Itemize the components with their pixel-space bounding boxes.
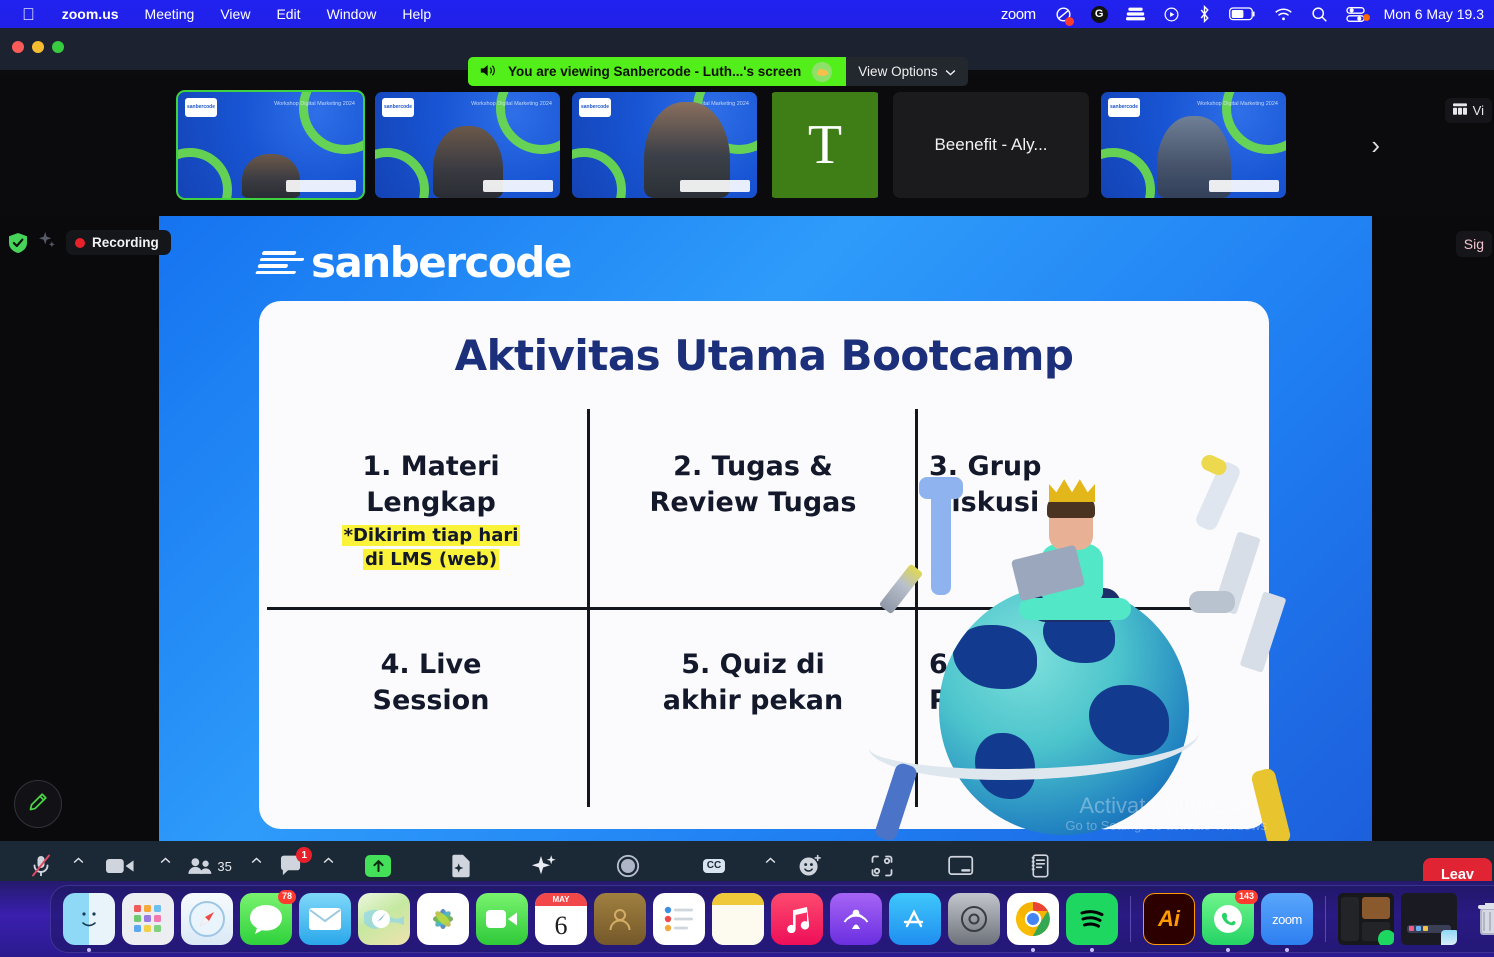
- share-arrow-icon: [365, 853, 391, 879]
- annotate-button[interactable]: [14, 780, 62, 828]
- slide-cell-2-line1: 2. Tugas &: [673, 451, 833, 482]
- participant-thumb-4[interactable]: T: [769, 92, 881, 198]
- slide-cell-4-line2: Session: [373, 685, 490, 716]
- spotlight-search-icon[interactable]: [1302, 6, 1337, 23]
- participant-thumb-6[interactable]: sanbercode Workshop Digital Marketing 20…: [1101, 92, 1286, 198]
- pencil-icon: [27, 791, 49, 818]
- close-window-button[interactable]: [12, 41, 24, 53]
- messages-badge: 78: [278, 890, 296, 904]
- decor-tube-icon: [931, 485, 951, 595]
- dock-app-messages[interactable]: 78: [240, 893, 292, 945]
- smiley-plus-icon: [798, 853, 822, 879]
- slide-illustration: [879, 415, 1279, 835]
- dock-app-music[interactable]: [771, 893, 823, 945]
- dock-app-facetime[interactable]: [476, 893, 528, 945]
- slide-cell-1: 1. Materi Lengkap *Dikirim tiap haridi L…: [297, 449, 565, 571]
- minimize-window-button[interactable]: [32, 41, 44, 53]
- speaker-icon: [480, 63, 497, 81]
- dock-app-podcasts[interactable]: [830, 893, 882, 945]
- app-running-indicator: [1031, 948, 1035, 952]
- apps-icon: [870, 853, 894, 879]
- dock-separator: [1130, 896, 1131, 942]
- slide-cell-1-line2: Lengkap: [366, 487, 496, 518]
- dock-app-safari[interactable]: [181, 893, 233, 945]
- dock-app-notes[interactable]: [712, 893, 764, 945]
- satellite-panel-icon: [1240, 591, 1287, 673]
- whatsapp-badge: 143: [1235, 890, 1258, 904]
- zoom-menu-extra-icon[interactable]: zoom: [992, 6, 1045, 23]
- sparkles-icon: [531, 853, 557, 879]
- record-dot-icon: [75, 238, 85, 248]
- dock-minimized-window-spotify[interactable]: [1338, 893, 1394, 945]
- chat-bubble-icon: 1: [279, 853, 303, 879]
- menu-item-zoom-us[interactable]: zoom.us: [49, 6, 132, 22]
- grid-view-icon: [1453, 103, 1467, 118]
- dock-app-calendar[interactable]: MAY 6: [535, 893, 587, 945]
- app-running-indicator: [1226, 948, 1230, 952]
- bluetooth-icon[interactable]: [1189, 5, 1220, 23]
- participant-thumb-1[interactable]: sanbercode Workshop Digital Marketing 20…: [178, 92, 363, 198]
- app-running-indicator: [1090, 948, 1094, 952]
- view-options-button[interactable]: View Options: [846, 57, 967, 86]
- pencil-icon: [879, 564, 924, 615]
- chat-unread-badge: 1: [296, 847, 312, 863]
- participant-thumb-3[interactable]: sanbercode ital Marketing 2024: [572, 92, 757, 198]
- menu-item-help[interactable]: Help: [389, 6, 444, 22]
- dock-app-whatsapp[interactable]: 143: [1202, 893, 1254, 945]
- sanbercode-logo-icon: sanbercode: [185, 98, 217, 117]
- battery-icon[interactable]: [1220, 7, 1265, 21]
- zoom-dock-label: zoom: [1272, 912, 1302, 927]
- window-traffic-lights[interactable]: [12, 41, 64, 53]
- video-camera-icon: [106, 853, 134, 879]
- recording-indicator[interactable]: Recording: [66, 230, 171, 255]
- sponsor-strip: [1209, 180, 1279, 192]
- document-sparkle-icon: [450, 853, 472, 879]
- participant-initial-avatar: T: [772, 92, 878, 198]
- dock-app-reminders[interactable]: [653, 893, 705, 945]
- illustrator-label: Ai: [1158, 906, 1180, 932]
- screen-recorder-icon[interactable]: [1045, 5, 1082, 24]
- slide-cell-1-line1: 1. Materi: [362, 451, 499, 482]
- decor-tube-icon: [873, 762, 918, 841]
- thumb-caption: ital Marketing 2024: [703, 101, 749, 107]
- sanbercode-brand-logo: sanbercode: [259, 238, 571, 287]
- dock-app-launchpad[interactable]: [122, 893, 174, 945]
- slide-cell-2-line2: Review Tugas: [650, 487, 857, 518]
- meeting-status-strip: Recording: [8, 230, 171, 255]
- view-options-label: View Options: [858, 64, 937, 79]
- thumb-caption: Workshop Digital Marketing 2024: [1197, 101, 1278, 107]
- whiteboard-icon: [948, 853, 974, 879]
- sanbercode-logo-icon: sanbercode: [382, 98, 414, 117]
- dock-minimized-window-desktop[interactable]: [1401, 893, 1457, 945]
- slide-title: Aktivitas Utama Bootcamp: [259, 301, 1269, 380]
- watermark-line-1: Activate Windows: [1065, 794, 1267, 818]
- viewing-screen-indicator: You are viewing Sanbercode - Luth...'s s…: [468, 57, 846, 86]
- menu-item-meeting[interactable]: Meeting: [132, 6, 208, 22]
- people-icon: 35: [187, 853, 231, 879]
- menu-item-window[interactable]: Window: [314, 6, 390, 22]
- dock-app-system-settings[interactable]: [948, 893, 1000, 945]
- cloud-icon: [812, 62, 832, 82]
- sponsor-strip: [680, 180, 750, 192]
- maximize-window-button[interactable]: [52, 41, 64, 53]
- ai-sparkle-icon[interactable]: [38, 231, 56, 254]
- chevron-down-icon: [945, 64, 956, 79]
- dock-app-finder[interactable]: [63, 893, 115, 945]
- person-on-globe-icon: [1009, 480, 1139, 635]
- windows-activation-watermark: Activate Windows Go to Settings to activ…: [1065, 794, 1267, 833]
- sanbercode-logo-icon: sanbercode: [1108, 98, 1140, 117]
- control-center-icon[interactable]: [1337, 6, 1374, 23]
- stack-layers-icon[interactable]: [1117, 6, 1154, 22]
- logitech-g-icon[interactable]: G: [1082, 6, 1117, 23]
- sanbercode-wordmark: sanbercode: [311, 238, 571, 287]
- record-circle-icon: [616, 853, 640, 879]
- slide-cell-1-note: *Dikirim tiap haridi LMS (web): [297, 524, 565, 571]
- thumb-caption: Workshop Digital Marketing 2024: [471, 101, 552, 107]
- sponsor-strip: [286, 180, 356, 192]
- dock-app-spotify[interactable]: [1066, 893, 1118, 945]
- app-running-indicator: [87, 948, 91, 952]
- slide-cell-2: 2. Tugas & Review Tugas: [607, 449, 899, 520]
- dock-separator: [1325, 896, 1326, 942]
- participants-count: 35: [217, 859, 231, 874]
- filmstrip-next-button[interactable]: ›: [1357, 74, 1394, 216]
- closed-caption-icon: CC: [703, 853, 725, 879]
- satellite-body-icon: [1189, 591, 1235, 613]
- dock-app-mail[interactable]: [299, 893, 351, 945]
- microphone-muted-icon: [30, 853, 52, 879]
- dock-app-app-store[interactable]: [889, 893, 941, 945]
- slide-cell-4-line1: 4. Live: [381, 649, 482, 680]
- screen-share-banner: You are viewing Sanbercode - Luth...'s s…: [468, 57, 968, 86]
- thumb-caption: Workshop Digital Marketing 2024: [274, 101, 355, 107]
- dock-app-zoom[interactable]: zoom: [1261, 893, 1313, 945]
- menu-item-edit[interactable]: Edit: [263, 6, 313, 22]
- participant-filmstrip[interactable]: sanbercode Workshop Digital Marketing 20…: [0, 74, 1494, 216]
- view-layout-button[interactable]: Vi: [1445, 98, 1492, 123]
- slide-cell-5-line2: akhir pekan: [663, 685, 843, 716]
- now-playing-icon[interactable]: [1154, 6, 1189, 23]
- decor-tube-icon: [919, 477, 963, 499]
- view-button-label: Vi: [1473, 103, 1484, 118]
- sanbercode-mark-icon: [255, 251, 306, 274]
- slide-cell-5-line1: 5. Quiz di: [681, 649, 825, 680]
- presentation-slide: sanbercode Aktivitas Utama Bootcamp 1. M…: [159, 216, 1372, 841]
- wifi-icon[interactable]: [1265, 7, 1302, 22]
- notes-icon: [1030, 853, 1050, 879]
- slide-card: Aktivitas Utama Bootcamp 1. Materi Lengk…: [259, 301, 1269, 829]
- zoom-meeting-window: You are viewing Sanbercode - Luth...'s s…: [0, 28, 1494, 957]
- macos-menu-bar:  zoom.us Meeting View Edit Window Help …: [0, 0, 1494, 28]
- apple-logo-icon[interactable]: : [8, 6, 49, 23]
- menu-item-view[interactable]: View: [207, 6, 263, 22]
- slide-cell-5: 5. Quiz di akhir pekan: [607, 647, 899, 718]
- sanbercode-logo-icon: sanbercode: [579, 98, 611, 117]
- dock-app-adobe-illustrator[interactable]: Ai: [1143, 893, 1195, 945]
- participant-thumb-2[interactable]: sanbercode Workshop Digital Marketing 20…: [375, 92, 560, 198]
- viewing-screen-text: You are viewing Sanbercode - Luth...'s s…: [508, 64, 801, 79]
- macos-dock: 78 MAY 6: [50, 885, 1494, 953]
- crown-icon: [1049, 478, 1095, 502]
- sign-in-button[interactable]: Sig: [1456, 231, 1492, 257]
- dock-app-contacts[interactable]: [594, 893, 646, 945]
- dock-app-maps[interactable]: [358, 893, 410, 945]
- dock-app-google-chrome[interactable]: [1007, 893, 1059, 945]
- participant-thumb-5[interactable]: Beenefit - Aly...: [893, 92, 1089, 198]
- dock-trash[interactable]: [1464, 893, 1494, 945]
- sponsor-strip: [483, 180, 553, 192]
- menu-bar-clock[interactable]: Mon 6 May 19.3: [1374, 6, 1486, 22]
- slide-cell-4: 4. Live Session: [297, 647, 565, 718]
- shield-check-icon[interactable]: [8, 232, 28, 254]
- recording-label: Recording: [92, 235, 159, 250]
- participant-name-label: Beenefit - Aly...: [934, 135, 1047, 155]
- chevron-right-icon: ›: [1371, 130, 1380, 161]
- dock-app-photos[interactable]: [417, 893, 469, 945]
- shared-screen-area: sanbercode Aktivitas Utama Bootcamp 1. M…: [0, 216, 1494, 841]
- watermark-line-2: Go to Settings to activate Windows: [1065, 818, 1267, 833]
- app-running-indicator: [1285, 948, 1289, 952]
